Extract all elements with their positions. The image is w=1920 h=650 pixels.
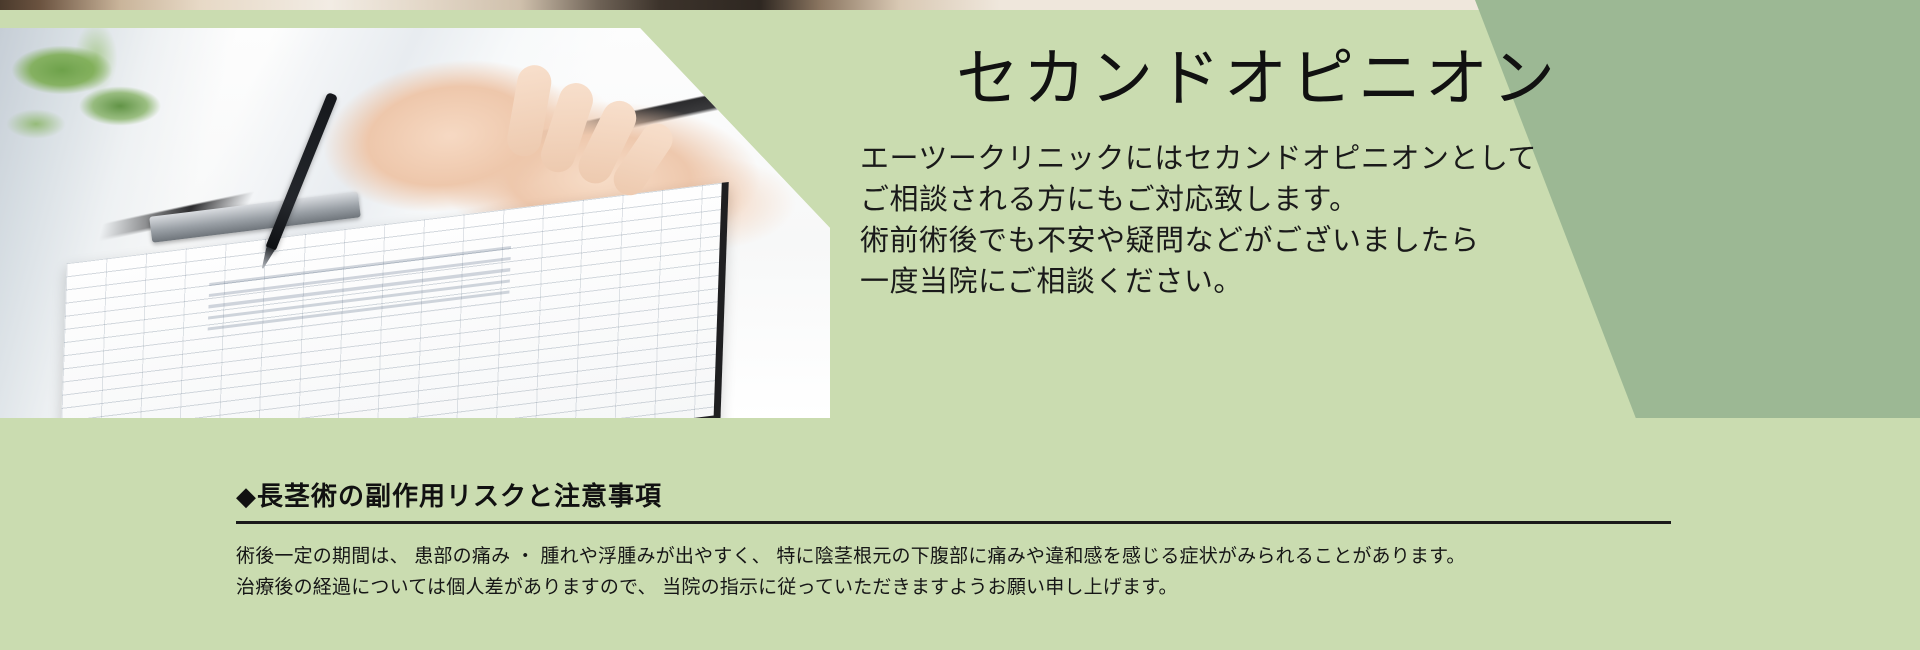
notice-block: ◆長茎術の副作用リスクと注意事項 術後一定の期間は、 患部の痛み ・ 腫れや浮腫… <box>236 476 1686 604</box>
notice-line: 術後一定の期間は、 患部の痛み ・ 腫れや浮腫みが出やすく、 特に陰茎根元の下腹… <box>236 542 1686 573</box>
second-opinion-banner: セカンドオピニオン エーツークリニックにはセカンドオピニオンとして ご相談される… <box>0 0 1920 650</box>
notice-heading: ◆長茎術の副作用リスクと注意事項 <box>236 476 1686 521</box>
consultation-photo <box>0 28 830 418</box>
notice-line: 治療後の経過については個人差がありますので、 当院の指示に従っていただきますよう… <box>236 573 1686 604</box>
page-title: セカンドオピニオン <box>956 44 1760 115</box>
hero-line: 術前術後でも不安や疑問などがございましたら <box>860 221 1760 262</box>
hero-text-block: セカンドオピニオン エーツークリニックにはセカンドオピニオンとして ご相談される… <box>860 44 1760 303</box>
notice-divider <box>236 521 1671 524</box>
notice-body: 術後一定の期間は、 患部の痛み ・ 腫れや浮腫みが出やすく、 特に陰茎根元の下腹… <box>236 542 1686 604</box>
hero-line: エーツークリニックにはセカンドオピニオンとして <box>860 139 1760 180</box>
hero-description: エーツークリニックにはセカンドオピニオンとして ご相談される方にもご対応致します… <box>860 139 1760 304</box>
hero-line: 一度当院にご相談ください。 <box>860 262 1760 303</box>
hero-line: ご相談される方にもご対応致します。 <box>860 180 1760 221</box>
